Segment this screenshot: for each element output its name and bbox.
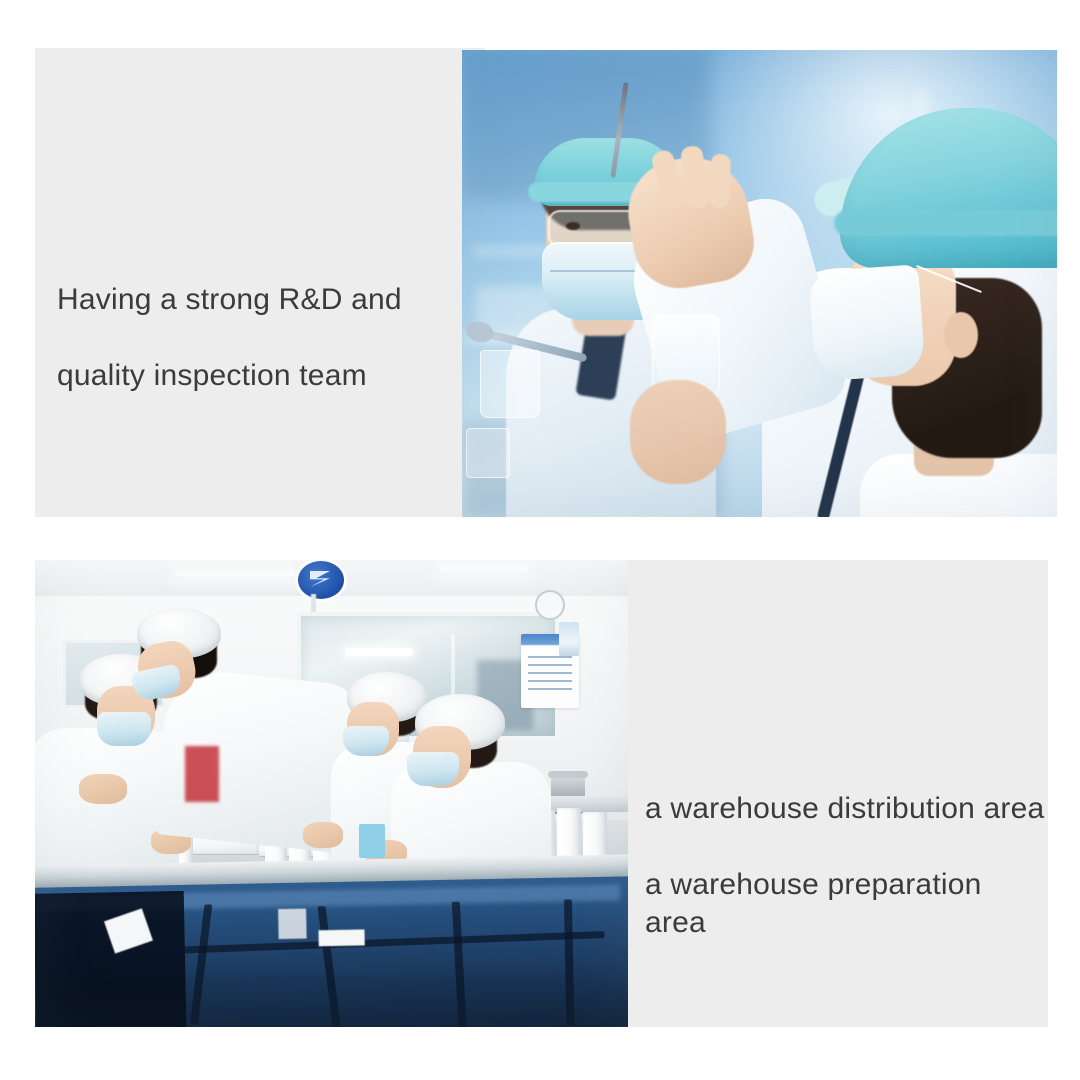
- lab-worker-right-hand-lower: [630, 380, 726, 484]
- rnd-caption-line-1: Having a strong R&D and: [57, 281, 457, 319]
- lab-finger-3: [709, 154, 731, 209]
- shelf-bottle: [559, 622, 579, 656]
- lab-worker-profile-hairnet-band: [834, 210, 1057, 236]
- ceiling-blue-sign: [295, 560, 347, 602]
- window-light-fixture: [345, 648, 413, 656]
- lab-worker-profile-hairnet: [840, 108, 1057, 268]
- warehouse-packaging-photo: [35, 560, 628, 1027]
- product-detail-page: Having a strong R&D and quality inspecti…: [0, 0, 1080, 1080]
- warehouse-caption: a warehouse distribution area a warehous…: [645, 752, 1045, 980]
- rnd-caption-line-2: quality inspection team: [57, 357, 457, 395]
- warehouse-caption-line-1: a warehouse distribution area: [645, 790, 1045, 828]
- ceiling-light-1: [175, 570, 295, 576]
- ceiling-light-2: [439, 566, 529, 571]
- rnd-caption: Having a strong R&D and quality inspecti…: [57, 243, 457, 433]
- lab-worker-left-eye-1: [566, 222, 580, 230]
- lab-beaker: [480, 350, 540, 418]
- lab-small-glass: [466, 428, 510, 478]
- warehouse-caption-line-2: a warehouse preparation area: [645, 866, 1045, 942]
- lab-worker-profile-ear: [944, 312, 978, 358]
- lab-quality-inspection-photo: [462, 50, 1057, 517]
- table-under-frame: [35, 876, 628, 1027]
- lab-worker-profile-face-mask: [808, 264, 925, 381]
- wall-clock: [535, 590, 565, 620]
